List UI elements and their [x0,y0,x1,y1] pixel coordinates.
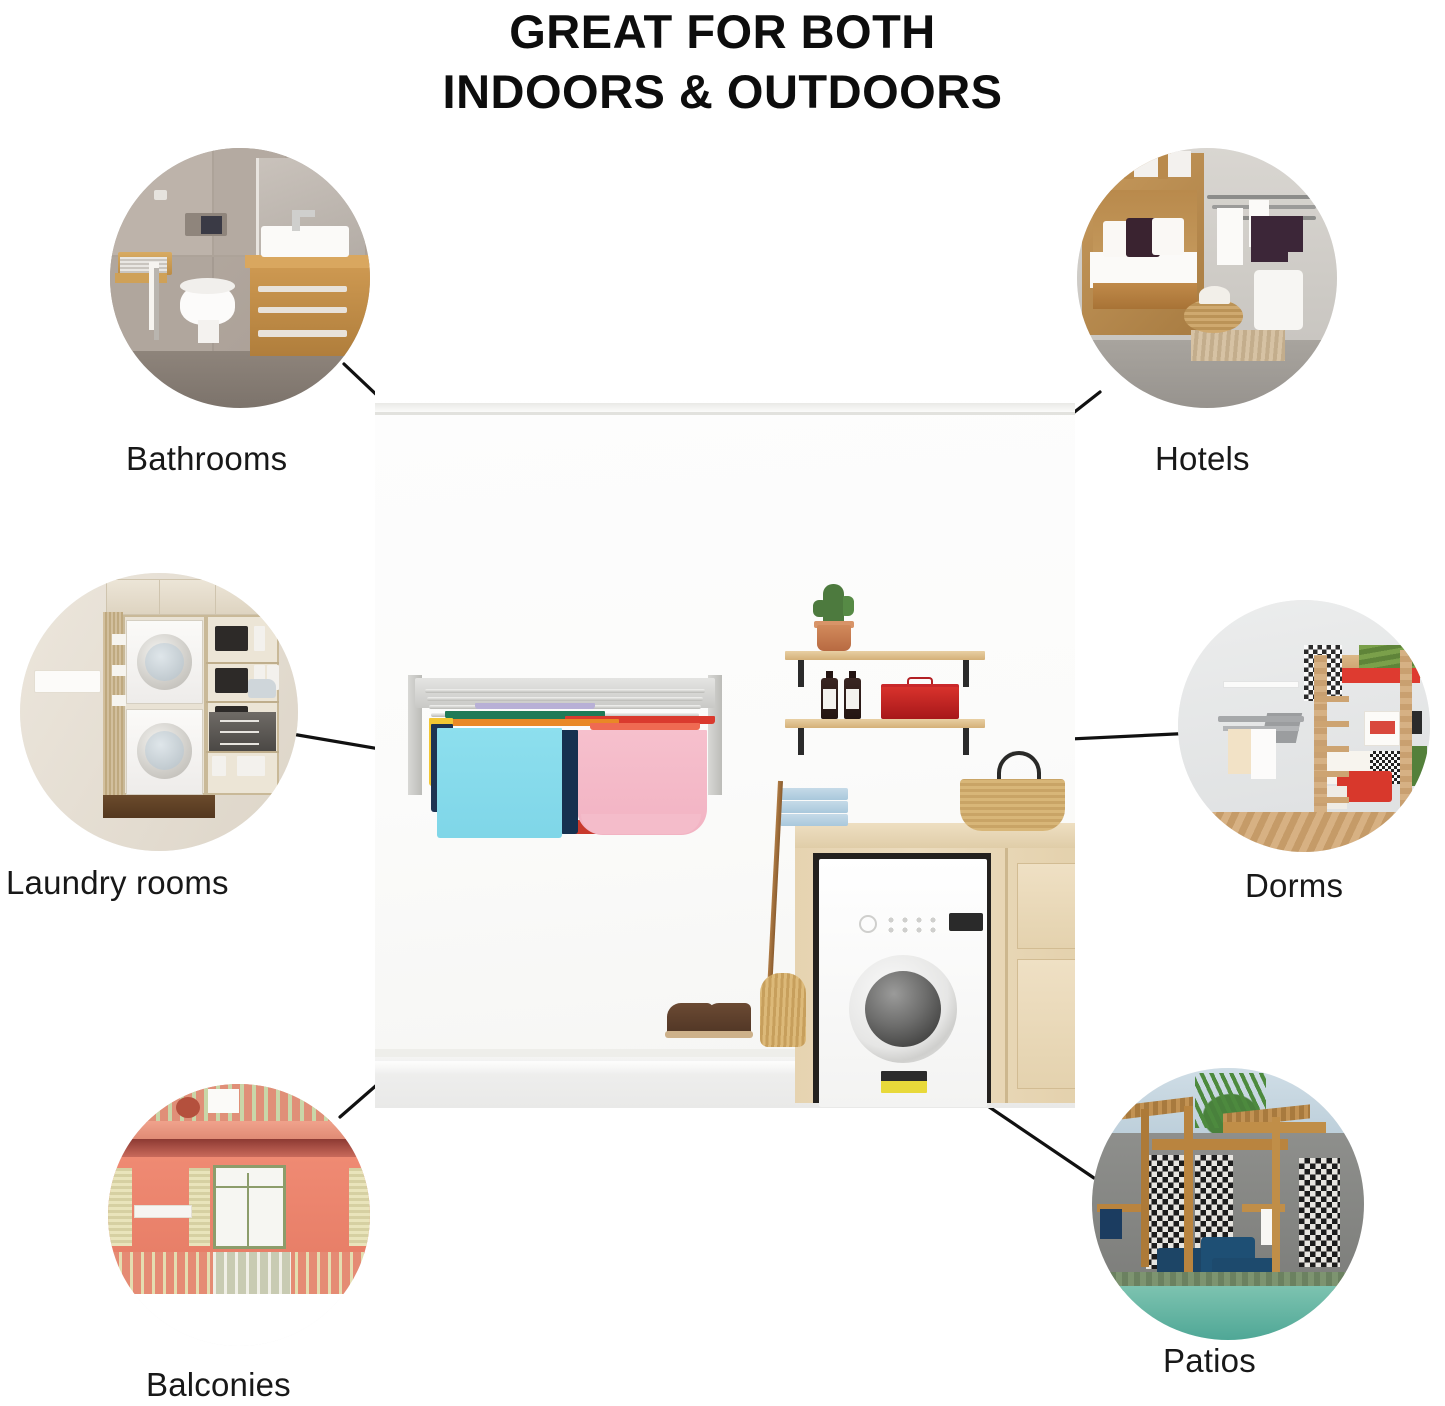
coral-garment [590,723,700,730]
stacked-blue-towels [780,788,848,828]
blue-towel-1 [780,788,848,800]
blue-towel-2 [780,801,848,813]
laundry-room-scene [20,573,298,851]
title-line-1: GREAT FOR BOTH [0,2,1445,62]
plywood-counter-unit [795,823,1075,1108]
thumbnail-patios[interactable] [1092,1068,1364,1340]
machine-display [949,913,983,931]
cabinet-panel-upper [1017,863,1075,949]
hotel-scene [1077,148,1337,408]
cactus-arm-right [843,596,854,616]
shelf-bracket-lower-left [798,728,804,755]
page-title: GREAT FOR BOTH INDOORS & OUTDOORS [0,2,1445,122]
ladder-post-left [1314,655,1327,811]
cactus-plant [823,584,844,626]
rack-rail-2 [427,697,703,701]
breeze-block-screen-3 [1299,1158,1340,1267]
bottle-label-2 [846,689,859,709]
energy-label-sticker [881,1071,927,1093]
thumbnail-balconies[interactable] [108,1084,370,1346]
label-balconies: Balconies [146,1366,291,1404]
title-line-2: INDOORS & OUTDOORS [0,62,1445,122]
thumbnail-hotels[interactable] [1077,148,1337,408]
red-toolbox [881,687,959,719]
ceiling-trim [375,403,1075,412]
shelf-bracket-lower-right [963,728,969,755]
thumbnail-dorms[interactable] [1178,600,1430,852]
lilac-garment [475,703,595,709]
machine-dial [859,915,877,933]
wall-shelf-unit [785,578,985,728]
machine-door-glass [865,971,941,1047]
label-patios: Patios [1163,1342,1256,1380]
shelf-bracket-upper-left [798,660,804,687]
machine-buttons [885,915,941,935]
balcony-scene [108,1084,370,1346]
navy-lounger-1 [1157,1248,1206,1275]
woven-straw-basket [960,779,1065,831]
hotel-towel-rack [1207,195,1316,199]
bottle-label-1 [823,689,836,709]
pink-towel-fold [581,814,701,834]
navy-garment-center [560,730,578,834]
wall-mounted-drying-rack [415,678,715,858]
label-laundry-rooms: Laundry rooms [6,864,229,902]
washing-machine [819,859,987,1107]
shelf-bracket-upper-right [963,660,969,687]
label-dorms: Dorms [1245,867,1343,905]
upper-balcony-railing [108,1084,370,1123]
balcony-window [213,1165,286,1249]
label-hotels: Hotels [1155,440,1250,478]
blue-towel-3 [780,814,848,826]
boot-sole-right [703,1031,753,1038]
broom-bristles [760,973,806,1047]
bathroom-sink [261,226,349,257]
cyan-towel [437,728,562,838]
infographic-page: GREAT FOR BOTH INDOORS & OUTDOORS [0,0,1445,1406]
dorm-scene [1178,600,1430,852]
thumbnail-laundry-rooms[interactable] [20,573,298,851]
dorm-wall-rack [1218,716,1304,722]
swimming-pool [1092,1286,1364,1340]
cabinet-panel-lower [1017,959,1075,1089]
cabinet-edge [1005,848,1008,1103]
bathroom-scene [110,148,370,408]
shelf-board-upper [785,651,985,660]
hero-product-photo [375,373,1075,1108]
label-bathrooms: Bathrooms [126,440,287,478]
rack-rail-1 [425,689,705,693]
shelf-board-lower [785,719,985,728]
patio-scene [1092,1068,1364,1340]
terracotta-pot [817,625,851,651]
thumbnail-bathrooms[interactable] [110,148,370,408]
